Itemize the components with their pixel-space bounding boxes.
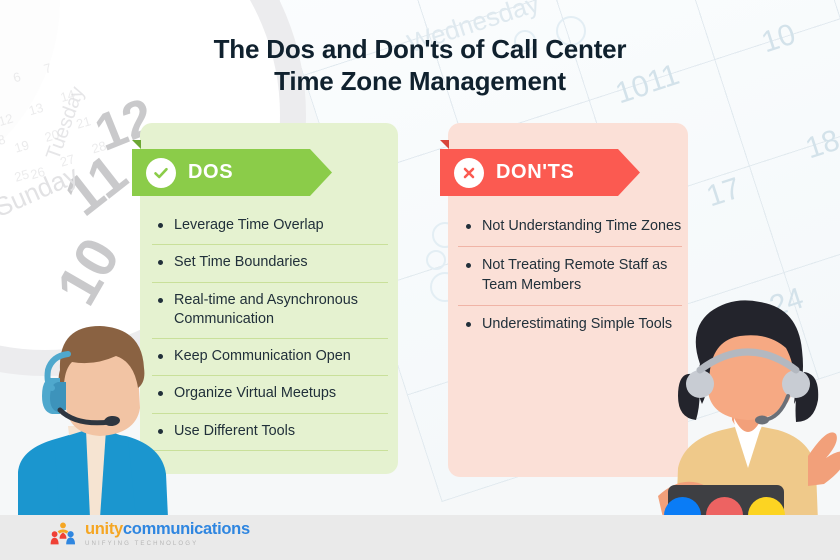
- list-item: Leverage Time Overlap: [152, 208, 388, 245]
- brand-logo-text: unitycommunications UNIFYING TECHNOLOGY: [85, 521, 250, 547]
- bullet-icon: [466, 322, 471, 327]
- donts-ribbon-header: DON'TS: [440, 149, 640, 196]
- svg-text:20: 20: [43, 126, 61, 144]
- call-center-agent-left-illustration: [0, 322, 209, 518]
- bullet-icon: [158, 223, 163, 228]
- dos-item-text: Leverage Time Overlap: [174, 216, 324, 235]
- bullet-icon: [158, 260, 163, 265]
- dos-label: DOS: [188, 161, 233, 184]
- svg-text:21: 21: [74, 113, 92, 131]
- page-title-line-2: Time Zone Management: [0, 66, 840, 98]
- svg-text:8: 8: [0, 132, 7, 148]
- donts-label: DON'TS: [496, 161, 574, 184]
- unity-people-logo-icon: [50, 522, 76, 546]
- page-title-line-1: The Dos and Don'ts of Call Center: [0, 34, 840, 66]
- donts-item-text: Not Understanding Time Zones: [482, 217, 681, 236]
- list-item: Not Treating Remote Staff as Team Member…: [458, 247, 682, 306]
- brand-name-communications: communications: [123, 520, 250, 538]
- dos-ribbon-header: DOS: [132, 149, 332, 196]
- brand-tagline: UNIFYING TECHNOLOGY: [85, 541, 250, 547]
- x-circle-icon: [454, 158, 484, 188]
- brand-name-unity: unity: [85, 520, 123, 538]
- list-item: Not Understanding Time Zones: [458, 208, 682, 247]
- background-circle-decoration: [426, 250, 446, 270]
- svg-text:26: 26: [29, 164, 47, 182]
- svg-text:12: 12: [0, 111, 15, 129]
- svg-text:28: 28: [90, 138, 108, 156]
- svg-text:13: 13: [27, 100, 45, 118]
- dos-item-text: Set Time Boundaries: [174, 253, 308, 272]
- svg-text:19: 19: [13, 137, 31, 155]
- bullet-icon: [466, 224, 471, 229]
- svg-text:27: 27: [58, 151, 76, 169]
- donts-item-text: Underestimating Simple Tools: [482, 315, 672, 334]
- infographic-canvas: Wednesday 11 10 10 18 17 24: [0, 0, 840, 560]
- bullet-icon: [158, 298, 163, 303]
- brand-logo[interactable]: unitycommunications UNIFYING TECHNOLOGY: [50, 521, 250, 547]
- bullet-icon: [466, 263, 471, 268]
- list-item: Set Time Boundaries: [152, 245, 388, 282]
- donts-item-text: Not Treating Remote Staff as Team Member…: [482, 256, 682, 295]
- page-title: The Dos and Don'ts of Call Center Time Z…: [0, 34, 840, 97]
- check-circle-icon: [146, 158, 176, 188]
